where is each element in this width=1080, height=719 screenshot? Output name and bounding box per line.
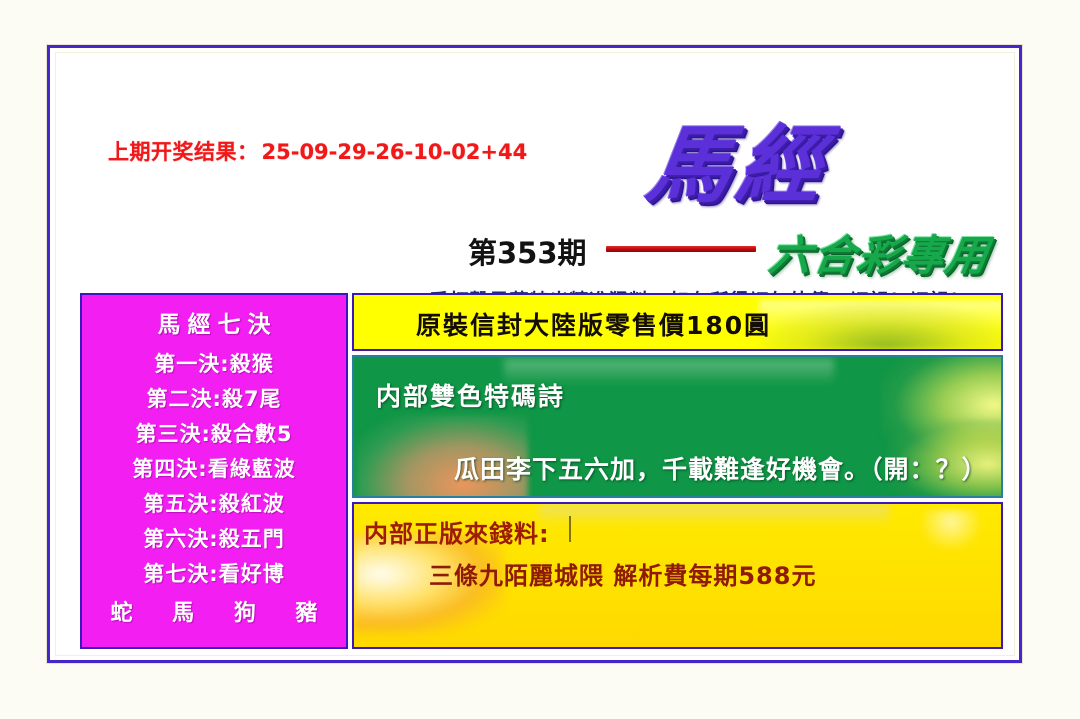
poem-line: 瓜田李下五六加，千載難逢好機會。（開：？） <box>454 450 988 486</box>
last-draw-label: 上期开奖结果： <box>108 140 259 164</box>
seven-tip-row-3: 第三決:殺合數5 <box>135 418 292 448</box>
money-smudge-right <box>921 510 981 550</box>
poem-heading: 内部雙色特碼詩 <box>376 377 565 413</box>
brand-subtitle: 六合彩專用 <box>765 222 995 283</box>
money-line: 三條九陌麗城隈 解析費每期588元 <box>429 556 816 591</box>
text-caret <box>569 516 571 542</box>
last-draw-numbers: 25-09-29-26-10-02+44 <box>262 140 528 164</box>
price-banner-smudge <box>759 300 1003 350</box>
poem-block: 内部雙色特碼詩 瓜田李下五六加，千載難逢好機會。（開：？） <box>352 355 1003 498</box>
last-draw-result: 上期开奖结果：25-09-29-26-10-02+44 <box>108 136 527 166</box>
price-banner-text: 原裝信封大陸版零售價180圓 <box>416 306 771 342</box>
poster-header: 上期开奖结果：25-09-29-26-10-02+44 馬經 第353期 六合彩… <box>50 48 1019 293</box>
brand-logo: 馬經 <box>640 110 955 220</box>
seven-tips-panel: 馬經七決 第一決:殺猴 第二決:殺7尾 第三決:殺合數5 第四決:看綠藍波 第五… <box>80 293 348 649</box>
poster-page: 上期开奖结果：25-09-29-26-10-02+44 馬經 第353期 六合彩… <box>0 0 1080 719</box>
right-column: 原裝信封大陸版零售價180圓 内部雙色特碼詩 瓜田李下五六加，千載難逢好機會。（… <box>352 293 1003 649</box>
money-block: 内部正版來錢料: 三條九陌麗城隈 解析費每期588元 <box>352 502 1003 649</box>
issue-divider-rule <box>606 246 756 252</box>
seven-tips-title: 馬經七決 <box>151 305 278 339</box>
price-banner: 原裝信封大陸版零售價180圓 <box>352 293 1003 351</box>
money-smudge-top <box>539 504 889 526</box>
seven-tip-row-5: 第五決:殺紅波 <box>143 488 284 518</box>
seven-tip-row-2: 第二決:殺7尾 <box>146 383 281 413</box>
seven-tip-row-1: 第一決:殺猴 <box>154 348 273 378</box>
poster-body: 馬經七決 第一決:殺猴 第二決:殺7尾 第三決:殺合數5 第四決:看綠藍波 第五… <box>80 293 1003 649</box>
money-label: 内部正版來錢料: <box>364 514 550 549</box>
seven-tip-row-4: 第四決:看綠藍波 <box>132 453 295 483</box>
zodiac-row: 蛇 馬 狗 豬 <box>95 595 334 627</box>
poster-frame: 上期开奖结果：25-09-29-26-10-02+44 馬經 第353期 六合彩… <box>47 45 1022 663</box>
issue-number: 第353期 <box>468 230 587 272</box>
seven-tip-row-6: 第六決:殺五門 <box>143 523 284 553</box>
seven-tip-row-7: 第七決:看好博 <box>143 558 284 588</box>
